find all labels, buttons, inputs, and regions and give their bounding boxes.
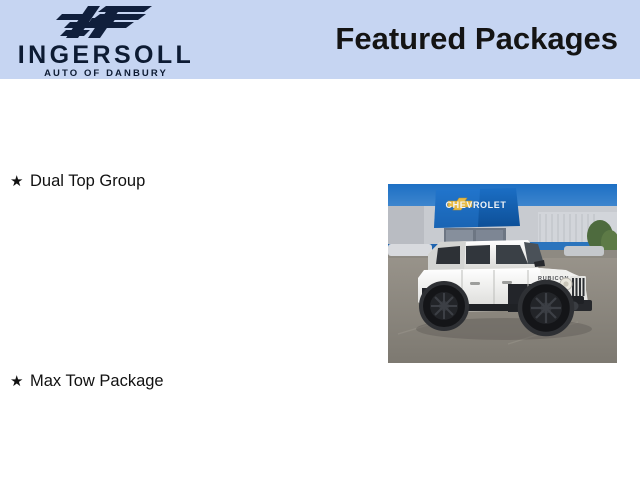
list-item: ★ Dual Top Group: [10, 171, 145, 192]
package-label: Max Tow Package: [30, 371, 164, 391]
ingersoll-winged-emblem-icon: [48, 4, 160, 42]
dealer-tagline: AUTO OF DANBURY: [8, 68, 204, 79]
star-bullet-icon: ★: [10, 172, 30, 192]
dealer-wordmark: INGERSOLL: [8, 42, 204, 68]
star-bullet-icon: ★: [10, 372, 30, 392]
dealer-logo[interactable]: INGERSOLL AUTO OF DANBURY: [8, 4, 204, 78]
featured-packages-list: ★ Dual Top Group ★ Max Tow Package: [0, 79, 380, 480]
page-title: Featured Packages: [335, 21, 618, 57]
list-item: ★ Max Tow Package: [10, 371, 164, 392]
vehicle-photo: CHEVROLET: [388, 184, 617, 363]
package-label: Dual Top Group: [30, 171, 145, 191]
svg-text:CHEVROLET: CHEVROLET: [446, 200, 507, 210]
